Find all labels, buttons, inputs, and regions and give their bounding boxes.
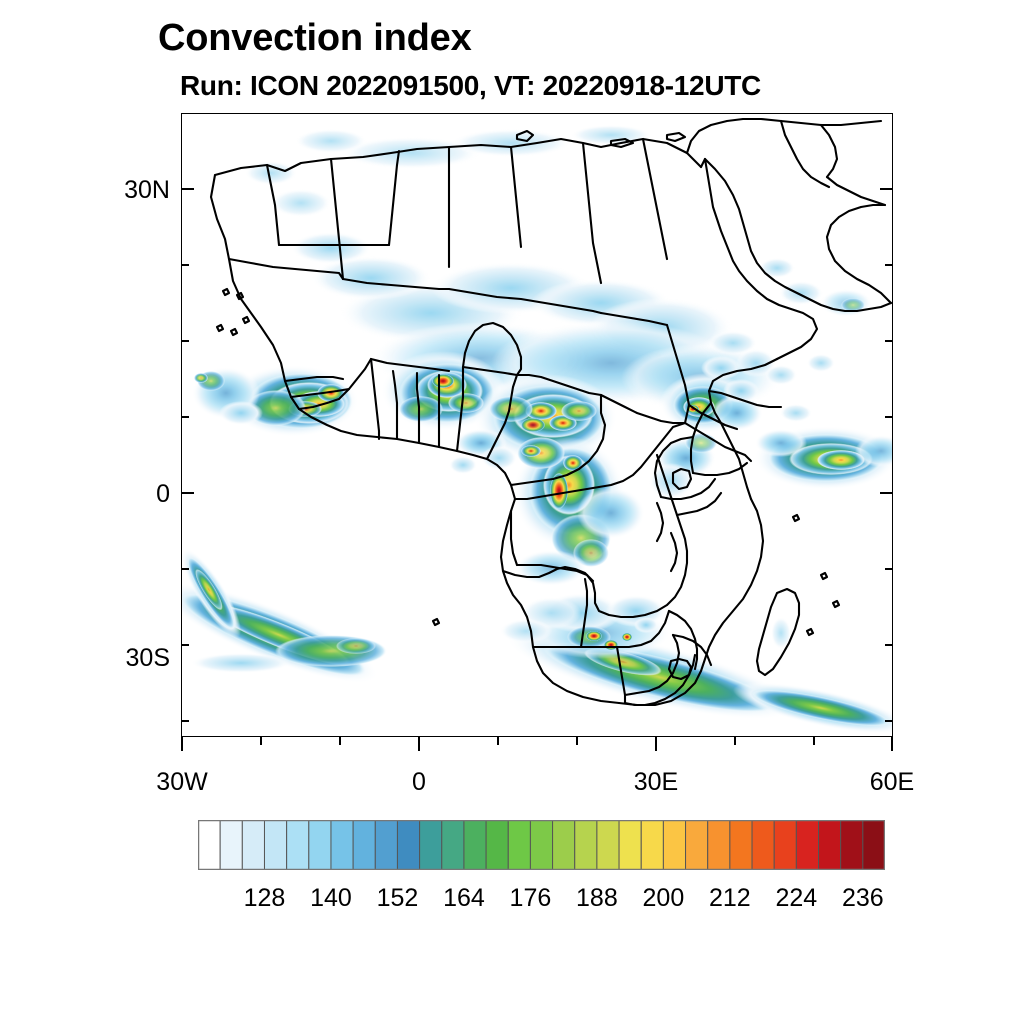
colorbar-cell (420, 820, 442, 870)
colorbar-cell (264, 820, 286, 870)
y-tick-label-30n: 30N (60, 176, 170, 205)
map-svg (181, 113, 893, 737)
colorbar-cell (375, 820, 397, 870)
colorbar-cell (841, 820, 863, 870)
colorbar-cell (530, 820, 552, 870)
colorbar-cell (597, 820, 619, 870)
colorbar-cell (774, 820, 796, 870)
cluster-indian-ocean (754, 426, 893, 490)
colorbar-cell (641, 820, 663, 870)
colorbar-cell (309, 820, 331, 870)
colorbar-cell (242, 820, 264, 870)
x-tick-label-30e: 30E (586, 768, 726, 797)
colorbar-cell (397, 820, 419, 870)
colorbar-cell (198, 820, 220, 870)
colorbar-cell (331, 820, 353, 870)
colorbar-cell (663, 820, 685, 870)
convection-index-map-page: Convection index Run: ICON 2022091500, V… (0, 0, 1024, 1024)
colorbar-cell (464, 820, 486, 870)
y-tick-label-0: 0 (60, 480, 170, 509)
colorbar-cell (220, 820, 242, 870)
colorbar-cell (575, 820, 597, 870)
y-tick-label-30s: 30S (60, 644, 170, 673)
map-plot-area (181, 113, 893, 737)
colorbar-cell (708, 820, 730, 870)
x-tick-label-60e: 60E (822, 768, 962, 797)
page-subtitle: Run: ICON 2022091500, VT: 20220918-12UTC (180, 70, 761, 102)
colorbar-cell (508, 820, 530, 870)
colorbar-cell (752, 820, 774, 870)
x-axis-ticks (181, 737, 893, 755)
colorbar-cell (619, 820, 641, 870)
colorbar-tick-label: 236 (823, 884, 903, 913)
page-title: Convection index (158, 17, 472, 60)
colorbar-cell (730, 820, 752, 870)
colorbar-cell (353, 820, 375, 870)
colorbar-cell (442, 820, 464, 870)
colorbar-swatches (198, 820, 885, 870)
colorbar (198, 820, 885, 870)
colorbar-cell (819, 820, 841, 870)
x-tick-label-0: 0 (349, 768, 489, 797)
colorbar-cell (796, 820, 818, 870)
x-tick-label-30w: 30W (112, 768, 252, 797)
colorbar-cell (686, 820, 708, 870)
colorbar-cell (863, 820, 885, 870)
colorbar-cell (486, 820, 508, 870)
colorbar-cell (553, 820, 575, 870)
colorbar-cell (287, 820, 309, 870)
